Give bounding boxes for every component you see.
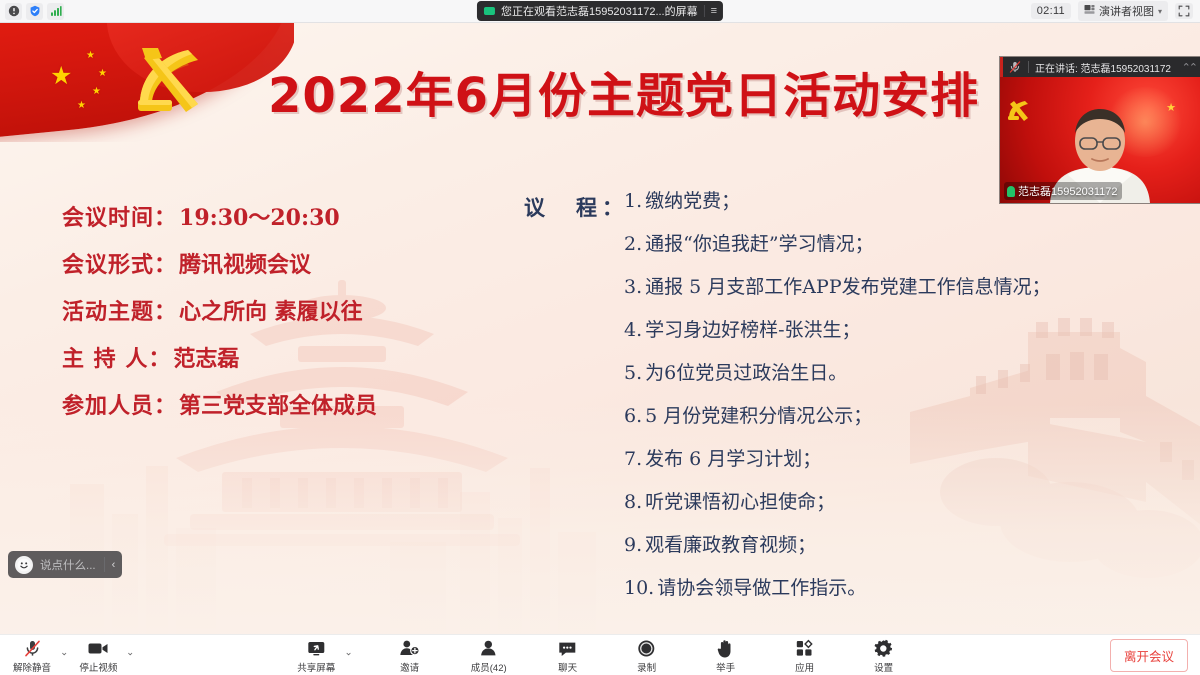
info-value: 范志磊	[173, 346, 239, 372]
agenda-item: 9.观看廉政教育视频；	[624, 536, 1094, 555]
participant-name-badge: 范志磊15952031172	[1004, 182, 1122, 200]
apps-label: 应用	[795, 660, 814, 674]
mic-muted-icon	[1008, 60, 1022, 74]
agenda-item-number: 7.	[624, 448, 642, 470]
screen-share-icon	[305, 638, 327, 658]
share-options-caret-icon[interactable]: ⌃	[344, 645, 352, 656]
members-person-icon	[478, 638, 500, 658]
banner-divider	[704, 5, 705, 17]
agenda-item: 4.学习身边好榜样-张洪生；	[624, 321, 1094, 340]
members-button[interactable]: 成员(42)	[463, 638, 515, 674]
record-circle-icon	[637, 638, 657, 658]
info-circle-icon[interactable]	[5, 3, 22, 20]
invite-button[interactable]: 邀请	[384, 638, 436, 674]
agenda-item-text: 请协会领导做工作指示。	[657, 577, 866, 599]
share-screen-label: 共享屏幕	[297, 660, 335, 674]
info-value: 腾讯视频会议	[179, 252, 311, 278]
chat-bubble-icon	[557, 638, 579, 658]
audio-options-caret-icon[interactable]: ⌃	[60, 645, 68, 656]
settings-label: 设置	[874, 660, 893, 674]
meeting-window: 02:11 演讲者视图 ▾ 您正在观看范志磊15952031172...的屏幕 …	[0, 0, 1200, 675]
share-banner-text: 您正在观看范志磊15952031172...的屏幕	[501, 3, 698, 19]
speaking-now-label: 正在讲话: 范志磊15952031172	[1035, 60, 1171, 75]
agenda-item-number: 10.	[624, 577, 654, 599]
stop-video-label: 停止视频	[79, 660, 117, 674]
record-button[interactable]: 录制	[621, 638, 673, 674]
meeting-timer: 02:11	[1031, 3, 1071, 19]
chat-collapse-icon[interactable]: ‹	[105, 559, 123, 571]
apps-grid-icon	[795, 638, 815, 658]
agenda-item-text: 5 月份党建积分情况公示；	[645, 405, 872, 427]
info-row: 会议时间：19:30～20:30	[62, 207, 377, 229]
screen-share-icon	[484, 7, 495, 15]
share-screen-button[interactable]: 共享屏幕	[290, 638, 342, 674]
agenda-item-number: 9.	[624, 534, 642, 556]
unmute-label: 解除静音	[13, 660, 51, 674]
info-row: 主 持 人：范志磊	[62, 348, 377, 370]
raise-hand-icon	[716, 638, 736, 658]
video-options-caret-icon[interactable]: ⌃	[126, 645, 134, 656]
agenda-item-text: 学习身边好榜样-张洪生；	[645, 319, 860, 341]
party-emblem-icon	[1006, 99, 1032, 125]
meeting-info-block: 会议时间：19:30～20:30 会议形式：腾讯视频会议 活动主题：心之所向 素…	[62, 207, 377, 442]
view-mode-label: 演讲者视图	[1099, 3, 1154, 19]
chat-input-pill[interactable]: 说点什么... ‹	[8, 551, 122, 578]
speaker-video-feed: ★ 范志磊15952031172	[1000, 77, 1200, 203]
screen-share-banner[interactable]: 您正在观看范志磊15952031172...的屏幕 ≡	[477, 1, 723, 21]
mic-muted-icon	[23, 638, 42, 658]
agenda-item-number: 6.	[624, 405, 642, 427]
agenda-list: 1.缴纳党费； 2.通报“你追我赶”学习情况； 3.通报 5 月支部工作APP发…	[624, 192, 1094, 622]
info-value: 心之所向 素履以往	[179, 299, 363, 325]
leave-meeting-button[interactable]: 离开会议	[1110, 639, 1188, 672]
active-speaker-indicator	[1000, 57, 1003, 77]
record-label: 录制	[637, 660, 656, 674]
apps-button[interactable]: 应用	[779, 638, 831, 674]
shield-icon[interactable]	[26, 3, 43, 20]
agenda-item: 10.请协会领导做工作指示。	[624, 579, 1094, 598]
invite-label: 邀请	[400, 660, 419, 674]
speaker-thumbnail[interactable]: 正在讲话: 范志磊15952031172 ⌃⌃ ★	[1000, 57, 1200, 203]
chevron-collapse-icon[interactable]: ⌃⌃	[1182, 61, 1196, 74]
agenda-item: 6.5 月份党建积分情况公示；	[624, 407, 1094, 426]
agenda-item-text: 听党课悟初心担使命；	[645, 491, 835, 513]
chat-button[interactable]: 聊天	[542, 638, 594, 674]
raise-hand-button[interactable]: 举手	[700, 638, 752, 674]
speaker-thumbnail-header: 正在讲话: 范志磊15952031172 ⌃⌃	[1000, 57, 1200, 77]
view-mode-selector[interactable]: 演讲者视图 ▾	[1078, 1, 1168, 21]
raise-hand-label: 举手	[716, 660, 735, 674]
video-camera-icon	[87, 638, 109, 658]
agenda-heading: 议 程：	[524, 192, 628, 222]
system-tray-icons	[0, 3, 64, 20]
agenda-item-text: 缴纳党费；	[645, 190, 740, 212]
agenda-item: 3.通报 5 月支部工作APP发布党建工作信息情况；	[624, 278, 1094, 297]
speaker-view-icon	[1084, 4, 1095, 18]
agenda-item-text: 通报 5 月支部工作APP发布党建工作信息情况；	[645, 276, 1050, 298]
info-label: 会议时间：	[62, 205, 177, 231]
toolbar-center-group: 共享屏幕 ⌃ 邀请 成员(42) 聊天	[290, 635, 909, 675]
header-divider	[1028, 61, 1029, 73]
agenda-item: 7.发布 6 月学习计划；	[624, 450, 1094, 469]
smiley-icon[interactable]	[15, 556, 33, 574]
agenda-item: 5.为6位党员过政治生日。	[624, 364, 1094, 383]
agenda-item: 2.通报“你追我赶”学习情况；	[624, 235, 1094, 254]
info-value: 第三党支部全体成员	[179, 393, 377, 419]
toolbar-right-group: 离开会议	[1110, 635, 1188, 675]
chat-label: 聊天	[558, 660, 577, 674]
star-icon: ★	[1166, 101, 1176, 114]
fullscreen-icon[interactable]	[1175, 3, 1193, 19]
info-label: 活动主题：	[62, 299, 177, 325]
agenda-item-text: 发布 6 月学习计划；	[645, 448, 821, 470]
info-value: 19:30～20:30	[179, 205, 340, 231]
meeting-toolbar: 解除静音 ⌃ 停止视频 ⌃ 共享屏幕 ⌃	[0, 634, 1200, 675]
mic-on-icon	[1007, 186, 1015, 197]
unmute-button[interactable]: 解除静音	[6, 638, 58, 674]
agenda-item-number: 2.	[624, 233, 642, 255]
info-row: 活动主题：心之所向 素履以往	[62, 301, 377, 323]
toolbar-left-group: 解除静音 ⌃ 停止视频 ⌃	[6, 635, 139, 675]
agenda-item-text: 为6位党员过政治生日。	[645, 362, 847, 384]
info-row: 参加人员：第三党支部全体成员	[62, 395, 377, 417]
agenda-item-number: 5.	[624, 362, 642, 384]
info-row: 会议形式：腾讯视频会议	[62, 254, 377, 276]
settings-button[interactable]: 设置	[858, 638, 910, 674]
signal-bars-icon[interactable]	[47, 3, 64, 20]
agenda-item: 8.听党课悟初心担使命；	[624, 493, 1094, 512]
agenda-item-text: 观看廉政教育视频；	[645, 534, 816, 556]
participant-name: 范志磊15952031172	[1018, 183, 1117, 199]
info-label: 主 持 人：	[62, 346, 171, 372]
info-label: 会议形式：	[62, 252, 177, 278]
members-label: 成员(42)	[471, 660, 507, 674]
agenda-item-text: 通报“你追我赶”学习情况；	[645, 233, 873, 255]
stop-video-button[interactable]: 停止视频	[72, 638, 124, 674]
agenda-item-number: 4.	[624, 319, 642, 341]
chat-input-placeholder[interactable]: 说点什么...	[40, 557, 104, 573]
agenda-item-number: 8.	[624, 491, 642, 513]
info-label: 参加人员：	[62, 393, 177, 419]
page-title: 2022年6月份主题党日活动安排	[268, 56, 979, 126]
gear-icon	[874, 638, 894, 658]
invite-person-icon	[399, 638, 421, 658]
chevron-down-icon: ▾	[1158, 7, 1162, 16]
banner-menu-icon[interactable]: ≡	[711, 5, 716, 17]
agenda-item-number: 1.	[624, 190, 642, 212]
agenda-item-number: 3.	[624, 276, 642, 298]
party-emblem-icon	[128, 44, 214, 124]
